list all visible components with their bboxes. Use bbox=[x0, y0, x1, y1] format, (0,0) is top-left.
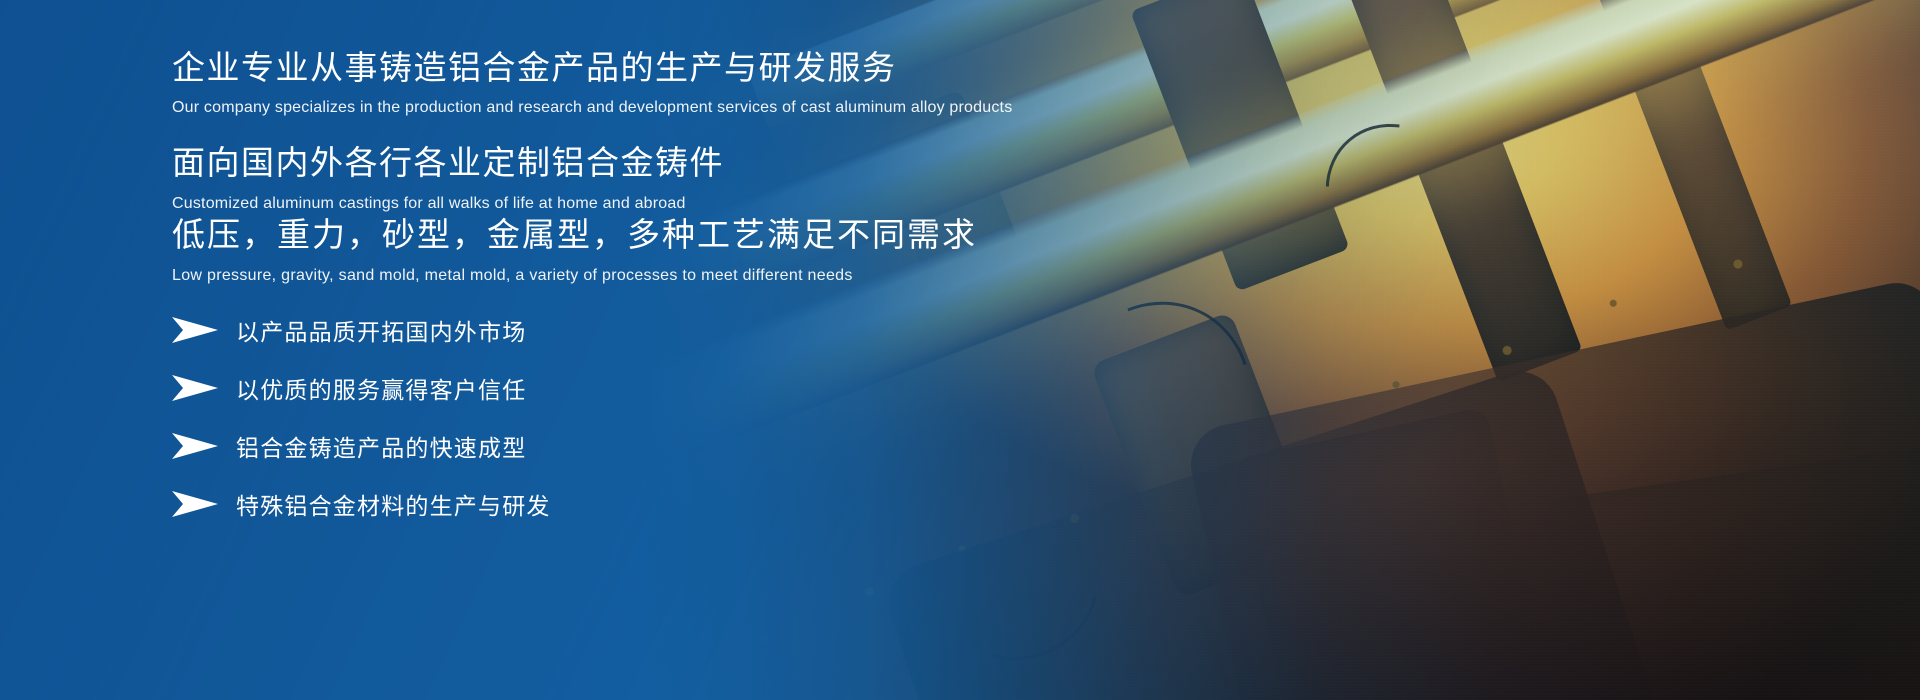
feature-bullet-list: 以产品品质开拓国内外市场 以优质的服务赢得客户信任 铝合金铸造产品的快速成型 特… bbox=[172, 313, 551, 521]
arrow-right-icon bbox=[172, 374, 218, 402]
arrow-right-icon bbox=[172, 490, 218, 518]
list-item: 以优质的服务赢得客户信任 bbox=[172, 371, 551, 405]
arrow-right-icon bbox=[172, 432, 218, 460]
list-item: 以产品品质开拓国内外市场 bbox=[172, 313, 551, 347]
list-item-label: 特殊铝合金材料的生产与研发 bbox=[236, 487, 551, 521]
heading-3-en: Low pressure, gravity, sand mold, metal … bbox=[172, 267, 977, 285]
heading-block-1: 企业专业从事铸造铝合金产品的生产与研发服务 Our company specia… bbox=[172, 48, 1012, 117]
list-item: 铝合金铸造产品的快速成型 bbox=[172, 429, 551, 463]
hero-banner: 企业专业从事铸造铝合金产品的生产与研发服务 Our company specia… bbox=[0, 0, 1920, 700]
heading-block-3: 低压，重力，砂型，金属型，多种工艺满足不同需求 Low pressure, gr… bbox=[172, 215, 977, 285]
heading-3-cn: 低压，重力，砂型，金属型，多种工艺满足不同需求 bbox=[172, 215, 977, 255]
heading-2-en: Customized aluminum castings for all wal… bbox=[172, 195, 724, 213]
list-item-label: 以优质的服务赢得客户信任 bbox=[236, 371, 526, 405]
heading-1-en: Our company specializes in the productio… bbox=[172, 99, 1012, 117]
heading-2-cn: 面向国内外各行各业定制铝合金铸件 bbox=[172, 143, 724, 183]
arrow-right-icon bbox=[172, 316, 218, 344]
heading-block-2: 面向国内外各行各业定制铝合金铸件 Customized aluminum cas… bbox=[172, 143, 724, 213]
heading-1-cn: 企业专业从事铸造铝合金产品的生产与研发服务 bbox=[172, 48, 1012, 88]
banner-content: 企业专业从事铸造铝合金产品的生产与研发服务 Our company specia… bbox=[172, 0, 1272, 700]
list-item-label: 以产品品质开拓国内外市场 bbox=[236, 313, 526, 347]
list-item-label: 铝合金铸造产品的快速成型 bbox=[236, 429, 526, 463]
list-item: 特殊铝合金材料的生产与研发 bbox=[172, 487, 551, 521]
